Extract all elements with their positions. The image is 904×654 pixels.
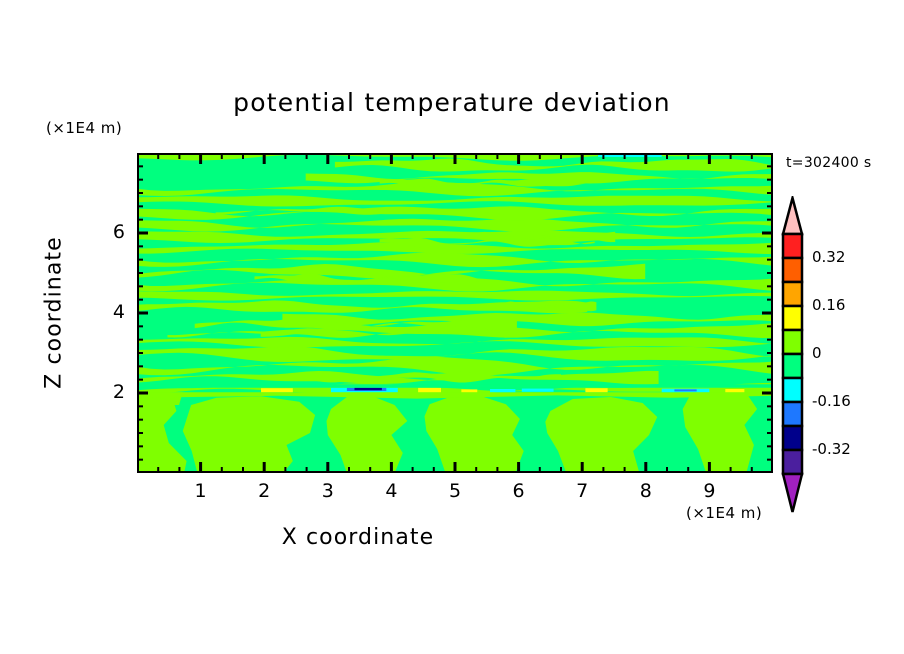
z-axis-unit-label: (×1E4 m) (46, 119, 122, 137)
colorbar-tick-label: -0.32 (812, 440, 851, 458)
z-tick-label: 2 (95, 381, 125, 403)
x-tick-label: 8 (631, 480, 661, 502)
x-tick-label: 9 (694, 480, 724, 502)
colorbar-swatches (778, 196, 808, 514)
x-tick-label: 2 (249, 480, 279, 502)
colorbar-tick-label: -0.16 (812, 392, 851, 410)
contour-field (137, 153, 773, 473)
colorbar-tick-label: 0.32 (812, 248, 845, 266)
x-tick-label: 4 (376, 480, 406, 502)
x-tick-label: 7 (567, 480, 597, 502)
timestamp-label: t=302400 s (786, 155, 871, 171)
colorbar (778, 196, 808, 514)
x-tick-label: 3 (313, 480, 343, 502)
z-tick-label: 6 (95, 221, 125, 243)
x-tick-label: 6 (504, 480, 534, 502)
x-axis-unit-label: (×1E4 m) (686, 504, 762, 522)
x-tick-label: 1 (186, 480, 216, 502)
colorbar-tick-label: 0.16 (812, 296, 845, 314)
colorbar-tick-label: 0 (812, 344, 822, 362)
z-axis-title: Z coordinate (42, 223, 67, 403)
z-tick-label: 4 (95, 301, 125, 323)
x-axis-title: X coordinate (0, 525, 716, 550)
page-title: potential temperature deviation (0, 88, 904, 117)
contour-plot (137, 153, 773, 473)
x-tick-label: 5 (440, 480, 470, 502)
